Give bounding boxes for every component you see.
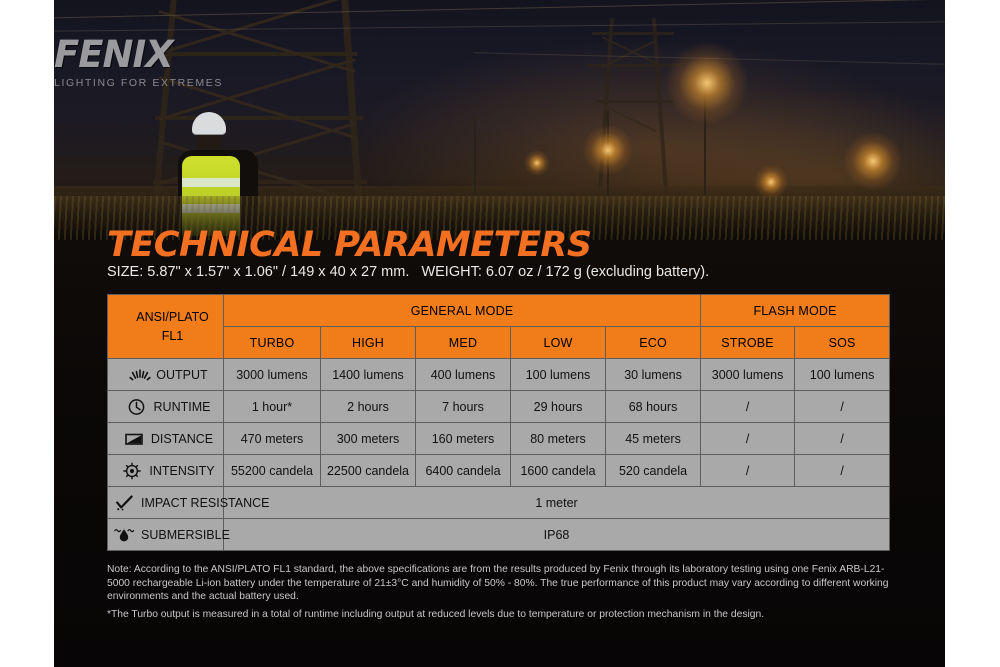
lamp-post [474,118,476,196]
row-label-distance: DISTANCE [108,423,224,455]
cell-submersible-value: IP68 [224,519,890,551]
mode-header-med: MED [416,327,511,359]
row-label-text: INTENSITY [149,464,214,478]
output-icon [129,366,151,384]
cell-output-eco: 30 lumens [606,359,701,391]
row-label-text: OUTPUT [156,368,207,382]
lamp-glow [754,165,788,199]
mode-header-strobe: STROBE [701,327,795,359]
distance-icon [124,430,146,448]
cell-distance-high: 300 meters [321,423,416,455]
row-label-text: SUBMERSIBLE [141,528,230,542]
cell-output-sos: 100 lumens [795,359,890,391]
mode-header-high: HIGH [321,327,416,359]
cell-distance-eco: 45 meters [606,423,701,455]
cell-intensity-med: 6400 candela [416,455,511,487]
cell-runtime-eco: 68 hours [606,391,701,423]
group-header-general-mode: GENERAL MODE [224,295,701,327]
table-row: SUBMERSIBLE IP68 [108,519,890,551]
cell-distance-strobe: / [701,423,795,455]
row-label-text: IMPACT RESISTANCE [141,496,270,510]
size-weight-line: SIZE: 5.87" x 1.57" x 1.06" / 149 x 40 x… [107,264,709,280]
lamp-glow [844,132,902,190]
cell-runtime-turbo: 1 hour* [224,391,321,423]
cell-intensity-high: 22500 candela [321,455,416,487]
cell-distance-low: 80 meters [511,423,606,455]
row-label-intensity: INTENSITY [108,455,224,487]
cell-intensity-low: 1600 candela [511,455,606,487]
cell-distance-sos: / [795,423,890,455]
product-spec-sheet: FENIX LIGHTING FOR EXTREMES TECHNICAL PA… [0,0,1000,667]
row-label-impact-resistance: IMPACT RESISTANCE [108,487,224,519]
impact-icon [114,494,136,512]
technical-parameters-table: ANSI/PLATO FL1 GENERAL MODE FLASH MODE T… [107,294,890,551]
row-label-text: DISTANCE [151,432,213,446]
table-row: RUNTIME 1 hour* 2 hours 7 hours 29 hours… [108,391,890,423]
cell-output-turbo: 3000 lumens [224,359,321,391]
row-label-output: OUTPUT [108,359,224,391]
table-group-header-row: ANSI/PLATO FL1 GENERAL MODE FLASH MODE [108,295,890,327]
table-mode-header-row: TURBO HIGH MED LOW ECO STROBE SOS [108,327,890,359]
row-label-text: RUNTIME [154,400,211,414]
cell-impact-resistance-value: 1 meter [224,487,890,519]
corner-header-line2: FL1 [162,329,184,343]
table-row: DISTANCE 470 meters 300 meters 160 meter… [108,423,890,455]
brand-wordmark: FENIX [54,36,254,73]
cell-distance-turbo: 470 meters [224,423,321,455]
cell-runtime-sos: / [795,391,890,423]
standard-note: Note: According to the ANSI/PLATO FL1 st… [107,563,897,604]
intensity-icon [122,462,144,480]
corner-header-cell: ANSI/PLATO FL1 [108,295,224,359]
cell-runtime-high: 2 hours [321,391,416,423]
cell-intensity-sos: / [795,455,890,487]
cell-output-low: 100 lumens [511,359,606,391]
corner-header-line1: ANSI/PLATO [136,310,208,324]
table-row: OUTPUT 3000 lumens 1400 lumens 400 lumen… [108,359,890,391]
cell-output-med: 400 lumens [416,359,511,391]
cell-intensity-eco: 520 candela [606,455,701,487]
cell-output-strobe: 3000 lumens [701,359,795,391]
water-drop-icon [114,526,136,544]
spec-table-wrapper: ANSI/PLATO FL1 GENERAL MODE FLASH MODE T… [107,294,889,551]
turbo-footnote: *The Turbo output is measured in a total… [107,609,897,620]
mode-header-turbo: TURBO [224,327,321,359]
fenix-logo: FENIX LIGHTING FOR EXTREMES [54,36,254,89]
clock-icon [127,398,149,416]
mode-header-eco: ECO [606,327,701,359]
lamp-glow [666,42,748,124]
table-row: INTENSITY 55200 candela 22500 candela 64… [108,455,890,487]
mode-header-sos: SOS [795,327,890,359]
cell-distance-med: 160 meters [416,423,511,455]
row-label-runtime: RUNTIME [108,391,224,423]
table-row: IMPACT RESISTANCE 1 meter [108,487,890,519]
brand-tagline: LIGHTING FOR EXTREMES [54,77,254,89]
lamp-glow [583,125,633,175]
mode-header-low: LOW [511,327,606,359]
page-title: TECHNICAL PARAMETERS [107,228,592,263]
group-header-flash-mode: FLASH MODE [701,295,890,327]
row-label-submersible: SUBMERSIBLE [108,519,224,551]
cell-runtime-low: 29 hours [511,391,606,423]
cell-output-high: 1400 lumens [321,359,416,391]
cell-runtime-strobe: / [701,391,795,423]
cell-intensity-turbo: 55200 candela [224,455,321,487]
cell-runtime-med: 7 hours [416,391,511,423]
cell-intensity-strobe: / [701,455,795,487]
hard-hat [192,112,226,134]
lamp-glow [524,150,550,176]
